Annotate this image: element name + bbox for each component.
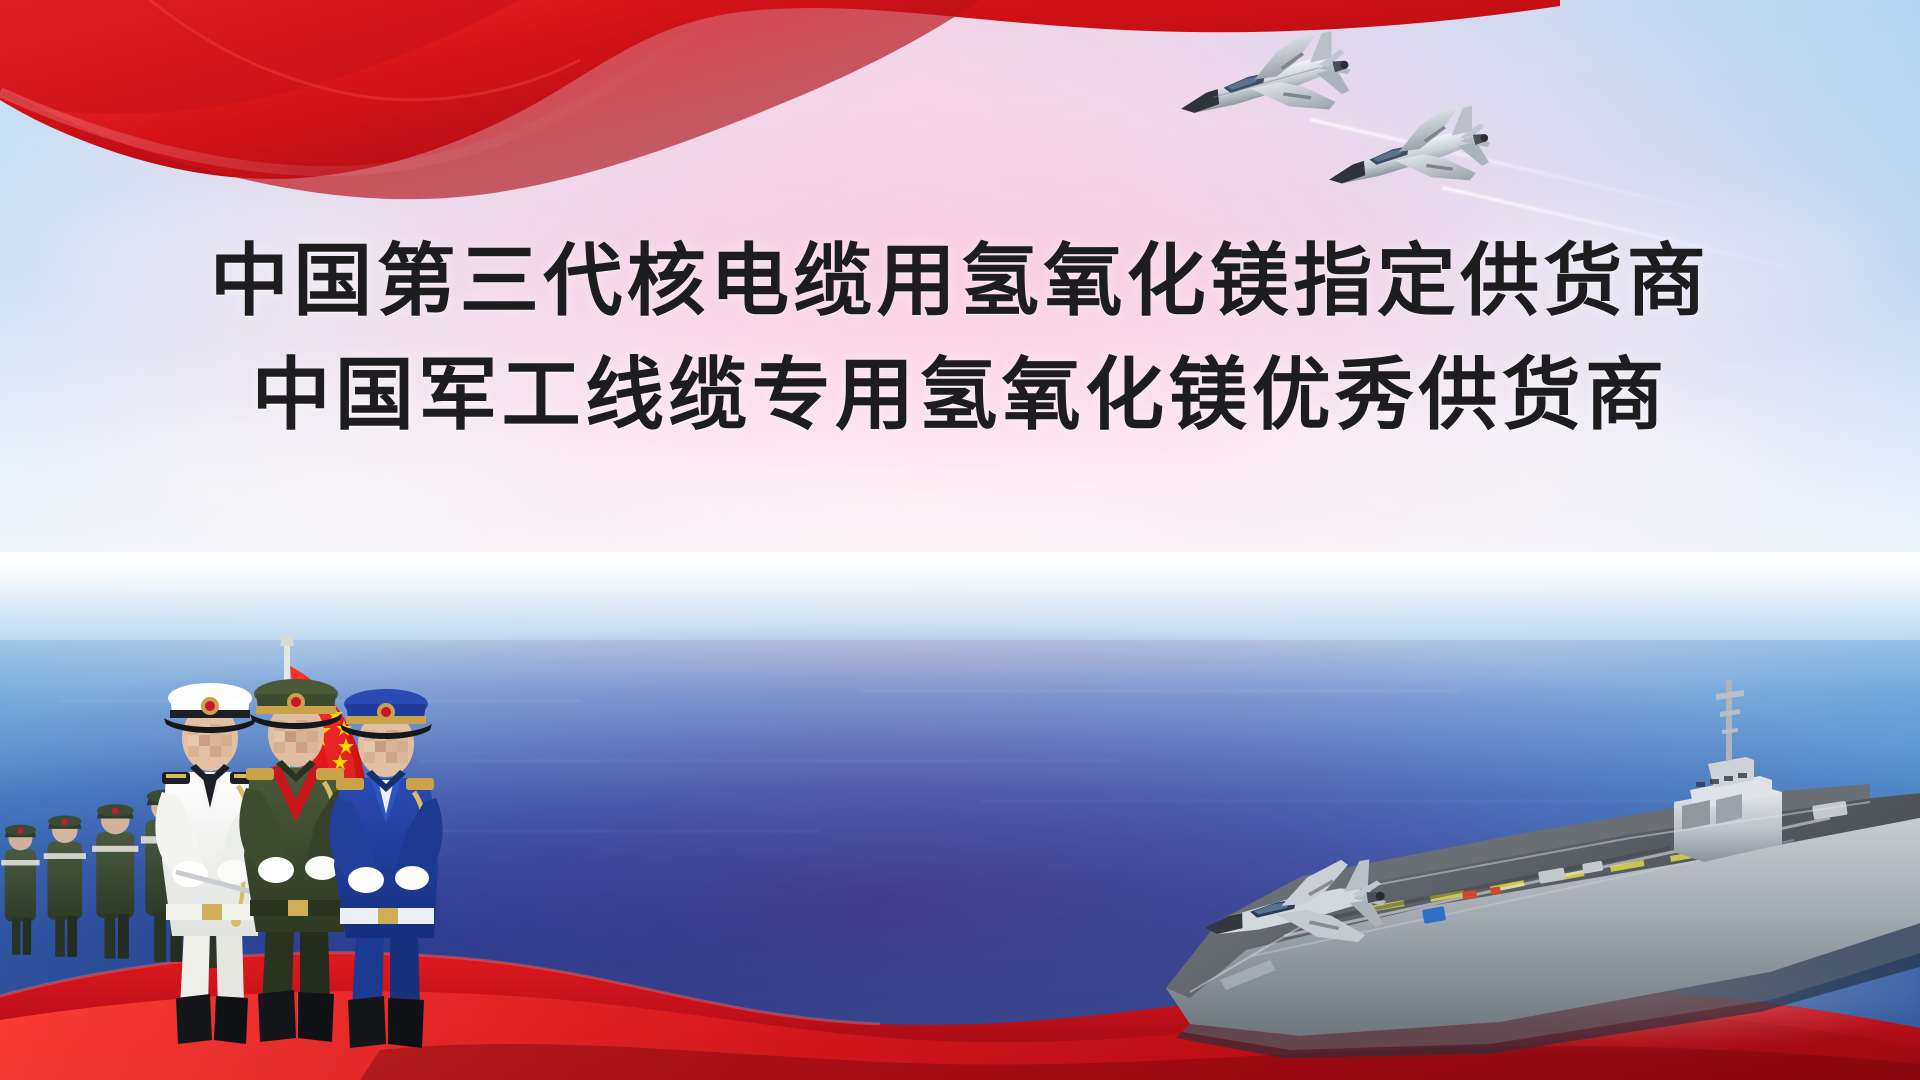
honor-guard-group [0,614,560,1044]
guard-army-rear-3 [92,804,138,958]
title-line-1: 中国第三代核电缆用氢氧化镁指定供货商 [0,236,1920,326]
cloud-1 [120,430,540,520]
banner-canvas: 中国第三代核电缆用氢氧化镁指定供货商 中国军工线缆专用氢氧化镁优秀供货商 [0,0,1920,1080]
aircraft-carrier [1070,620,1920,1050]
guard-army-rear-1 [1,825,39,955]
title-line-2: 中国军工线缆专用氢氧化镁优秀供货商 [0,350,1920,440]
cloud-2 [620,470,1180,550]
title-block: 中国第三代核电缆用氢氧化镁指定供货商 中国军工线缆专用氢氧化镁优秀供货商 [0,236,1920,440]
carrier-island-superstructure [1674,680,1782,862]
guard-army-rear-2 [44,815,86,956]
